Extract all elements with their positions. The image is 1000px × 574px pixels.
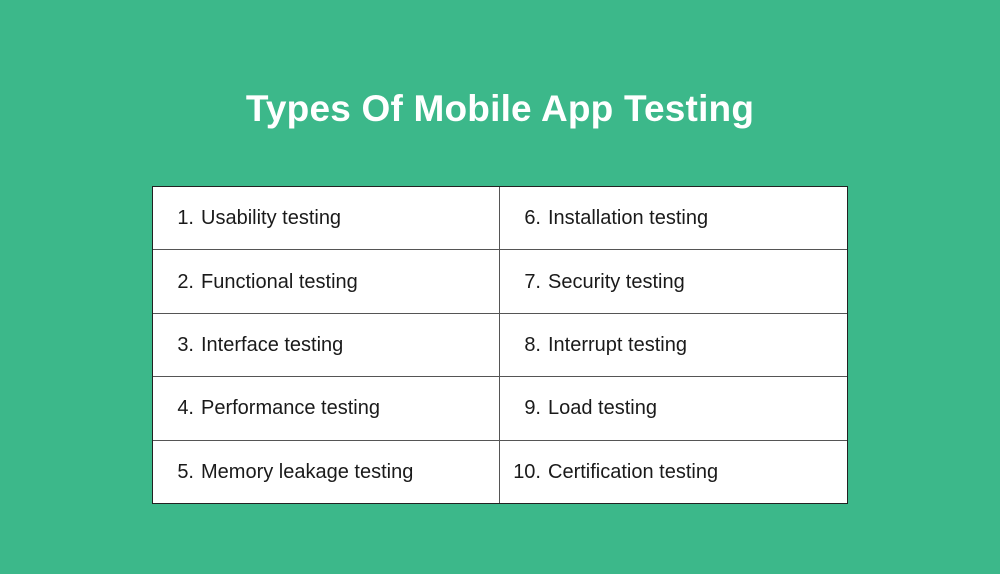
list-item-number: 9. bbox=[500, 395, 548, 421]
list-item-number: 3. bbox=[153, 332, 201, 358]
list-item-number: 5. bbox=[153, 459, 201, 485]
list-item-label: Security testing bbox=[548, 269, 685, 295]
list-item-number: 8. bbox=[500, 332, 548, 358]
list-item: 1. Usability testing bbox=[153, 205, 341, 231]
list-item-label: Interrupt testing bbox=[548, 332, 687, 358]
list-item: 5. Memory leakage testing bbox=[153, 459, 413, 485]
table-cell-right: 9. Load testing bbox=[500, 377, 847, 439]
table-row: 4. Performance testing 9. Load testing bbox=[153, 377, 847, 440]
list-item: 6. Installation testing bbox=[500, 205, 708, 231]
page-title: Types Of Mobile App Testing bbox=[0, 84, 1000, 134]
table-cell-right: 6. Installation testing bbox=[500, 187, 847, 249]
table-cell-left: 4. Performance testing bbox=[153, 377, 500, 439]
table-row: 2. Functional testing 7. Security testin… bbox=[153, 250, 847, 313]
list-item-label: Usability testing bbox=[201, 205, 341, 231]
list-item: 3. Interface testing bbox=[153, 332, 343, 358]
table-row: 3. Interface testing 8. Interrupt testin… bbox=[153, 314, 847, 377]
list-item-number: 4. bbox=[153, 395, 201, 421]
list-item-number: 1. bbox=[153, 205, 201, 231]
list-item: 7. Security testing bbox=[500, 269, 685, 295]
list-item-label: Functional testing bbox=[201, 269, 358, 295]
types-of-testing-table: 1. Usability testing 6. Installation tes… bbox=[152, 186, 848, 504]
list-item-number: 7. bbox=[500, 269, 548, 295]
table-cell-left: 2. Functional testing bbox=[153, 250, 500, 312]
table-cell-left: 5. Memory leakage testing bbox=[153, 441, 500, 503]
list-item-number: 10. bbox=[500, 459, 548, 485]
table-cell-right: 8. Interrupt testing bbox=[500, 314, 847, 376]
poster-canvas: Types Of Mobile App Testing 1. Usability… bbox=[0, 0, 1000, 574]
list-item-label: Performance testing bbox=[201, 395, 380, 421]
list-item-number: 2. bbox=[153, 269, 201, 295]
table-row: 5. Memory leakage testing 10. Certificat… bbox=[153, 441, 847, 503]
list-item-label: Interface testing bbox=[201, 332, 343, 358]
table-cell-right: 10. Certification testing bbox=[500, 441, 847, 503]
list-item-label: Memory leakage testing bbox=[201, 459, 413, 485]
list-item: 4. Performance testing bbox=[153, 395, 380, 421]
list-item-label: Load testing bbox=[548, 395, 657, 421]
table-row: 1. Usability testing 6. Installation tes… bbox=[153, 187, 847, 250]
table-cell-right: 7. Security testing bbox=[500, 250, 847, 312]
table-cell-left: 1. Usability testing bbox=[153, 187, 500, 249]
table-cell-left: 3. Interface testing bbox=[153, 314, 500, 376]
list-item: 10. Certification testing bbox=[500, 459, 718, 485]
list-item-label: Installation testing bbox=[548, 205, 708, 231]
list-item: 2. Functional testing bbox=[153, 269, 358, 295]
list-item: 8. Interrupt testing bbox=[500, 332, 687, 358]
list-item-number: 6. bbox=[500, 205, 548, 231]
list-item: 9. Load testing bbox=[500, 395, 657, 421]
list-item-label: Certification testing bbox=[548, 459, 718, 485]
